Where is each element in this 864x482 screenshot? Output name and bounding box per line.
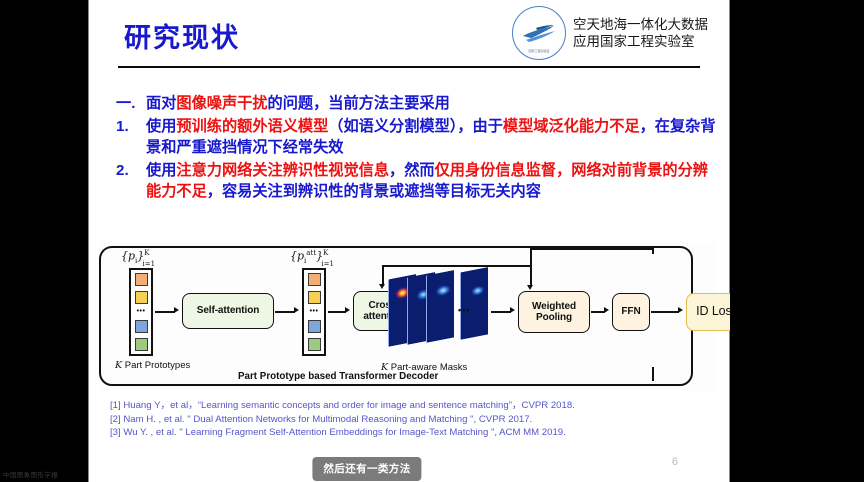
arrowhead bbox=[174, 307, 179, 313]
prototype-ellipsis: ••• bbox=[310, 309, 319, 315]
institute-seal-icon: 国家工程实验室 bbox=[512, 6, 566, 60]
masks-ellipsis: ••• bbox=[458, 305, 470, 315]
presentation-slide: 研究现状 国家工程实验室 空天地海一体化大数据 应用国家工程实验室 一. bbox=[88, 0, 730, 482]
institute-name-line2: 应用国家工程实验室 bbox=[573, 33, 708, 50]
text-segment: 的问题，当前方法主要采用 bbox=[268, 95, 450, 112]
id-loss-node: ID Loss bbox=[686, 293, 730, 331]
slide-left-edge bbox=[88, 0, 89, 482]
bullet-text: 使用注意力网络关注辨识性视觉信息，然而仅用身份信息监督，网络对前背景的分辨能力不… bbox=[146, 160, 716, 203]
bullet-text: 面对图像噪声干扰的问题，当前方法主要采用 bbox=[146, 93, 716, 115]
attention-mask bbox=[426, 270, 454, 342]
attended-prototypes-stack: ••• bbox=[302, 268, 326, 356]
text-segment: ，容易关注到辨识性的背景或遮挡等目标无关内容 bbox=[207, 183, 541, 200]
connector bbox=[275, 311, 295, 313]
bullet-marker: 2. bbox=[116, 160, 146, 182]
page-number: 6 bbox=[672, 456, 678, 468]
connector bbox=[382, 265, 384, 285]
arrowhead bbox=[379, 284, 385, 289]
institute-logo: 国家工程实验室 空天地海一体化大数据 应用国家工程实验室 bbox=[512, 6, 708, 60]
list-item: 2. 使用注意力网络关注辨识性视觉信息，然而仅用身份信息监督，网络对前背景的分辨… bbox=[116, 160, 716, 203]
connector bbox=[328, 311, 346, 313]
text-segment: ，然而 bbox=[389, 162, 435, 179]
prototype-ellipsis: ••• bbox=[137, 309, 146, 315]
arrowhead bbox=[678, 307, 683, 313]
bullet-marker: 一. bbox=[116, 93, 146, 115]
list-item: 1. 使用预训练的额外语义模型（如语义分割模型），由于模型域泛化能力不足，在复杂… bbox=[116, 116, 716, 159]
architecture-figure: {{ppi}Ki=1 ••• K Part Prototypes Self-at… bbox=[99, 243, 716, 391]
connector bbox=[530, 248, 653, 250]
bird-swoosh-icon bbox=[522, 23, 556, 43]
ffn-node: FFN bbox=[612, 293, 650, 331]
text-segment: 使用 bbox=[146, 118, 176, 135]
caption-symbol-k: K bbox=[115, 360, 122, 371]
weighted-pooling-label: WeightedPooling bbox=[532, 301, 576, 324]
bullet-marker: 1. bbox=[116, 116, 146, 138]
prototype-square bbox=[135, 320, 148, 333]
prototype-square bbox=[308, 320, 321, 333]
arrowhead bbox=[604, 307, 609, 313]
connector bbox=[155, 311, 175, 313]
prototype-square bbox=[308, 338, 321, 351]
institute-name: 空天地海一体化大数据 应用国家工程实验室 bbox=[573, 16, 708, 50]
header-divider bbox=[118, 66, 700, 68]
part-prototypes-caption: K Part Prototypes bbox=[115, 360, 190, 371]
bullet-text: 使用预训练的额外语义模型（如语义分割模型），由于模型域泛化能力不足，在复杂背景和… bbox=[146, 116, 716, 159]
text-segment-highlight: 模型域泛化能力不足 bbox=[503, 118, 640, 135]
screen-root: 研究现状 国家工程实验室 空天地海一体化大数据 应用国家工程实验室 一. bbox=[0, 0, 864, 482]
text-segment: 使用 bbox=[146, 162, 176, 179]
decoder-caption: Part Prototype based Transformer Decoder bbox=[238, 371, 438, 382]
watermark-label: 中国图象图形学报 bbox=[3, 469, 58, 479]
prototype-square bbox=[135, 338, 148, 351]
arrowhead bbox=[294, 307, 299, 313]
weighted-pooling-line2: Pooling bbox=[536, 312, 572, 323]
prototype-square bbox=[135, 273, 148, 286]
self-attention-node: Self-attention bbox=[182, 293, 274, 329]
prototype-left-math-label: {{ppi}Ki=1 bbox=[121, 249, 162, 265]
part-prototypes-stack: ••• bbox=[129, 268, 153, 356]
text-segment-highlight: 预训练的额外语义模型 bbox=[176, 118, 328, 135]
prototype-square bbox=[308, 273, 321, 286]
connector bbox=[591, 311, 605, 313]
arrowhead bbox=[510, 307, 515, 313]
attention-mask bbox=[460, 267, 488, 339]
institute-name-line1: 空天地海一体化大数据 bbox=[573, 16, 708, 33]
connector bbox=[491, 311, 511, 313]
text-segment: （如语义分割模型），由于 bbox=[328, 118, 503, 135]
seal-bottom-label: 国家工程实验室 bbox=[513, 50, 565, 54]
live-caption-bubble: 然后还有一类方法 bbox=[312, 457, 421, 481]
bullet-list: 一. 面对图像噪声干扰的问题，当前方法主要采用 1. 使用预训练的额外语义模型（… bbox=[116, 93, 716, 204]
reference-item: [1] Huang Y，et al，“Learning semantic con… bbox=[110, 399, 720, 413]
part-aware-masks-group: ••• bbox=[388, 263, 498, 358]
arrowhead bbox=[345, 307, 350, 313]
weighted-pooling-node: WeightedPooling bbox=[518, 291, 590, 333]
text-segment-highlight: 注意力网络关注辨识性视觉信息 bbox=[176, 162, 389, 179]
connector bbox=[530, 248, 532, 286]
prototype-square bbox=[308, 291, 321, 304]
weighted-pooling-line1: Weighted bbox=[532, 301, 576, 312]
page-title: 研究现状 bbox=[124, 16, 240, 55]
text-segment: 面对 bbox=[146, 95, 176, 112]
text-segment-highlight: 图像噪声干扰 bbox=[176, 95, 267, 112]
references-list: [1] Huang Y，et al，“Learning semantic con… bbox=[110, 399, 720, 440]
list-item: 一. 面对图像噪声干扰的问题，当前方法主要采用 bbox=[116, 93, 716, 115]
reference-item: [2] Nam H. , et al. " Dual Attention Net… bbox=[110, 413, 720, 427]
prototype-right-math-label: {piatt}Ki=1 bbox=[290, 249, 341, 265]
connector bbox=[652, 367, 654, 381]
prototype-square bbox=[135, 291, 148, 304]
reference-item: [3] Wu Y. , et al. " Learning Fragment S… bbox=[110, 426, 720, 440]
connector bbox=[652, 248, 654, 254]
connector bbox=[651, 311, 679, 313]
arrowhead bbox=[527, 285, 533, 290]
caption-text: Part Prototypes bbox=[125, 360, 190, 371]
slide-right-edge bbox=[729, 0, 730, 482]
